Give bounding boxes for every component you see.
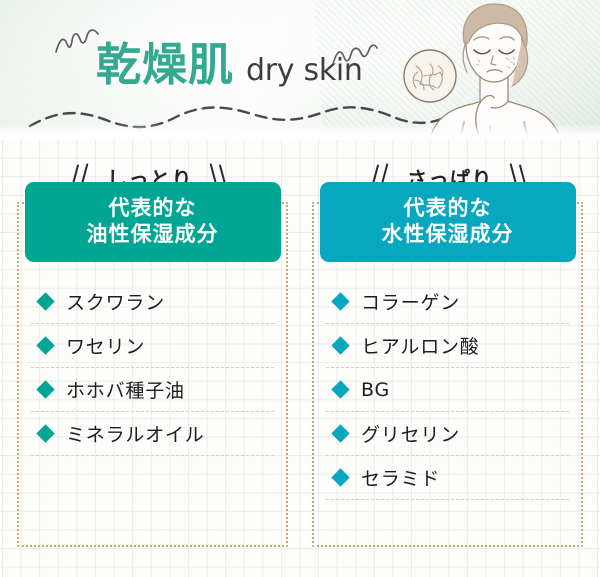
diamond-bullet-icon [36,292,54,310]
diamond-bullet-icon [331,468,349,486]
banner-fade [0,124,600,140]
ingredient-label: コラーゲン [361,288,460,315]
diamond-bullet-icon [331,336,349,354]
ingredient-label: BG [361,379,390,401]
card-fresh: 代表的な 水性保湿成分 コラーゲン ヒアルロン酸 BG [312,202,583,547]
ingredient-columns: しっとり 代表的な 油性保湿成分 スクワラン ワセリン [0,158,600,558]
heading-line-1: 代表的な [109,196,197,222]
list-item[interactable]: ワセリン [31,324,274,368]
ingredient-label: グリセリン [361,420,460,447]
list-item[interactable]: コラーゲン [326,280,569,324]
ingredient-label: ホホバ種子油 [66,376,185,403]
heading-line-2: 油性保湿成分 [87,222,219,248]
column-fresh: さっぱり 代表的な 水性保湿成分 コラーゲン ヒアルロン酸 [300,158,600,558]
heading-line-1: 代表的な [404,196,492,222]
woman-dry-skin-illustration [394,0,594,140]
heading-pill-moist: 代表的な 油性保湿成分 [25,182,281,262]
card-moist: 代表的な 油性保湿成分 スクワラン ワセリン ホホバ種子油 [17,202,288,547]
column-moist: しっとり 代表的な 油性保湿成分 スクワラン ワセリン [0,158,300,558]
ingredient-label: ヒアルロン酸 [361,332,480,359]
list-item[interactable]: BG [326,368,569,412]
title-japanese: 乾燥肌 [96,42,234,87]
list-item[interactable]: ミネラルオイル [31,412,274,456]
diamond-bullet-icon [331,424,349,442]
ingredient-label: セラミド [361,464,440,491]
title-english: dry skin [246,56,363,86]
list-item[interactable]: グリセリン [326,412,569,456]
heading-pill-fresh: 代表的な 水性保湿成分 [320,182,576,262]
diamond-bullet-icon [36,424,54,442]
diamond-bullet-icon [331,380,349,398]
heading-line-2: 水性保湿成分 [382,222,514,248]
diamond-bullet-icon [36,336,54,354]
list-item[interactable]: スクワラン [31,280,274,324]
list-item[interactable]: ホホバ種子油 [31,368,274,412]
ingredient-list-fresh: コラーゲン ヒアルロン酸 BG グリセリン [326,280,569,500]
skin-magnifier-circle [404,50,456,102]
page-title: 乾燥肌 dry skin [96,42,363,87]
ingredient-label: スクワラン [66,288,165,315]
ingredient-list-moist: スクワラン ワセリン ホホバ種子油 ミネラルオイル [31,280,274,456]
ingredient-label: ミネラルオイル [66,420,205,447]
wavy-dashed-divider [28,104,448,134]
diamond-bullet-icon [36,380,54,398]
header-banner: 乾燥肌 dry skin [0,0,600,140]
infographic-page: 乾燥肌 dry skin [0,0,600,577]
diamond-bullet-icon [331,292,349,310]
list-item[interactable]: セラミド [326,456,569,500]
ingredient-label: ワセリン [66,332,145,359]
list-item[interactable]: ヒアルロン酸 [326,324,569,368]
